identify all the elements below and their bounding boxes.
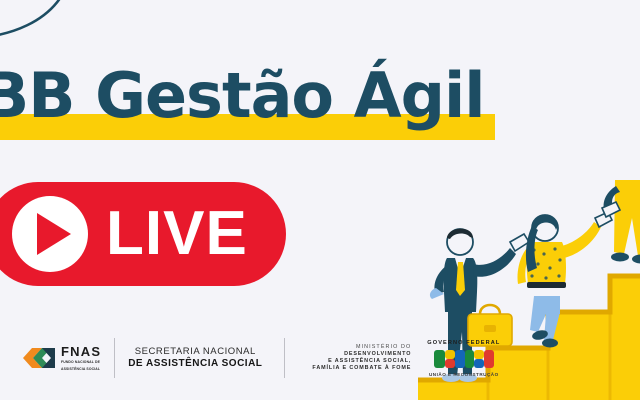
ministerio-line1: MINISTÉRIO DO xyxy=(356,344,411,351)
ministerio-label: MINISTÉRIO DO DESENVOLVIMENTO E ASSISTÊN… xyxy=(312,334,411,382)
fnas-name: FNAS xyxy=(61,345,101,358)
governo-bottom-label: UNIÃO E RECONSTRUÇÃO xyxy=(429,371,499,378)
governo-top-label: GOVERNO FEDERAL xyxy=(427,339,500,347)
page-title: BB Gestão Ágil xyxy=(0,52,484,140)
secretaria-line2: DE ASSISTÊNCIA SOCIAL xyxy=(128,358,262,370)
footer-logos: FNAS FUNDO NACIONAL DE ASSISTÊNCIA SOCIA… xyxy=(22,334,500,382)
fnas-subtitle-line2: ASSISTÊNCIA SOCIAL xyxy=(61,367,101,371)
slide-canvas: BB Gestão Ágil LIVE xyxy=(0,0,640,400)
fnas-logo: FNAS FUNDO NACIONAL DE ASSISTÊNCIA SOCIA… xyxy=(22,334,101,382)
secretaria-label: SECRETARIA NACIONAL DE ASSISTÊNCIA SOCIA… xyxy=(128,334,262,382)
ministerio-line4: FAMÍLIA E COMBATE À FOME xyxy=(312,365,411,372)
ministerio-line3: E ASSISTÊNCIA SOCIAL, xyxy=(328,358,411,365)
secretaria-line1: SECRETARIA NACIONAL xyxy=(135,346,256,358)
live-badge-label: LIVE xyxy=(106,203,248,265)
curved-line-decoration-icon xyxy=(0,0,110,52)
brasil-government-logo-icon: BRASIL xyxy=(433,348,495,370)
governo-federal-logo: GOVERNO FEDERAL BRASIL UNIÃO E RECONSTRU… xyxy=(427,339,500,378)
fnas-subtitle-line1: FUNDO NACIONAL DE xyxy=(61,360,101,364)
fnas-arrow-logo-icon xyxy=(22,345,56,371)
live-badge[interactable]: LIVE xyxy=(0,182,286,286)
footer-divider-2 xyxy=(284,338,285,378)
play-icon xyxy=(12,196,88,272)
footer-divider xyxy=(114,338,115,378)
ministerio-line2: DESENVOLVIMENTO xyxy=(344,351,411,358)
title-block: BB Gestão Ágil xyxy=(0,52,520,140)
